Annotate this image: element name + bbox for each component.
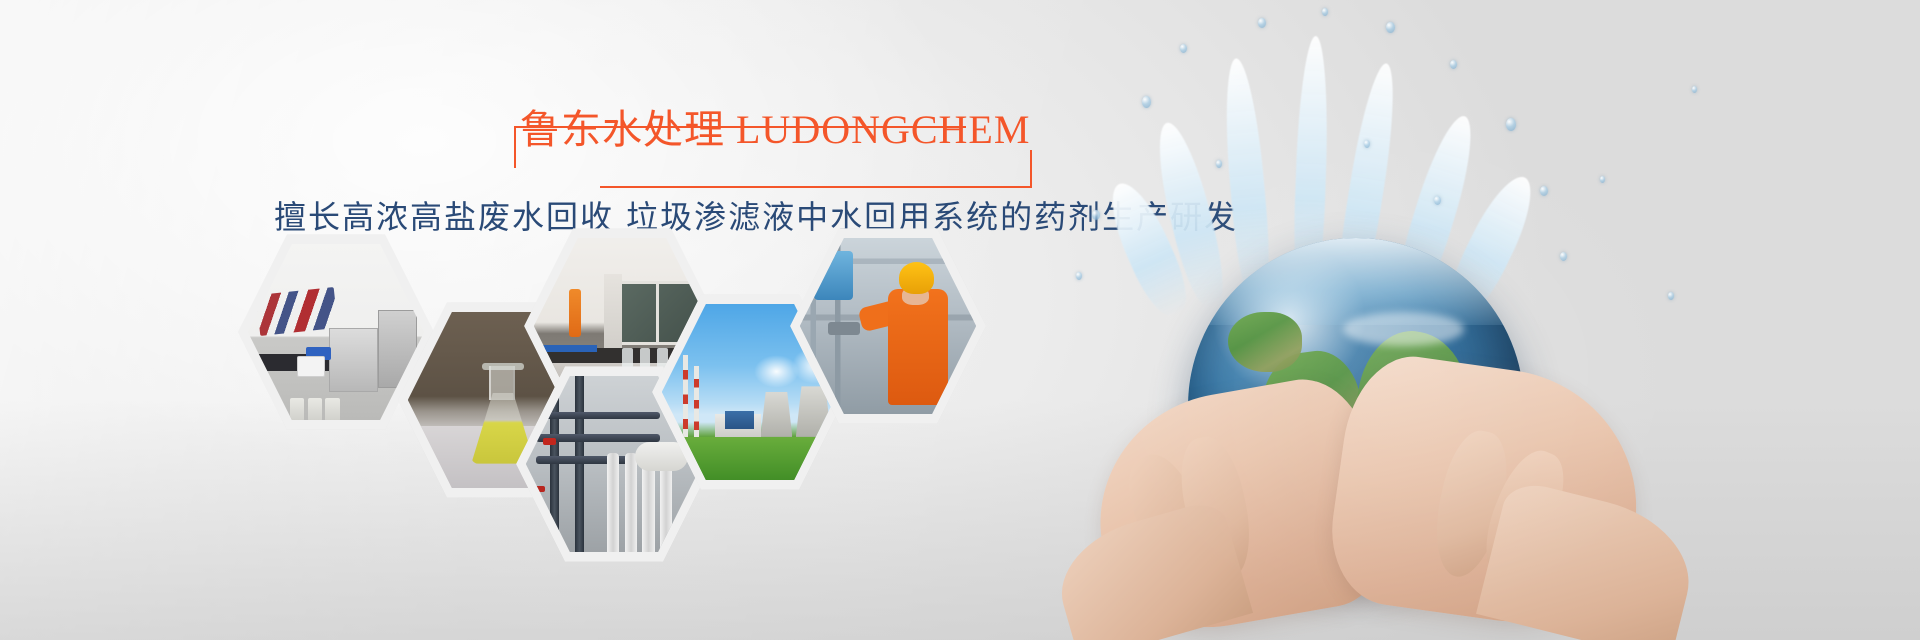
water-droplet — [1600, 176, 1605, 183]
safety-helmet — [899, 262, 934, 294]
lab-jug — [325, 398, 339, 422]
red-valve — [543, 438, 555, 445]
water-droplet — [1434, 196, 1441, 205]
membrane-vessel — [625, 453, 637, 558]
lab-cabinet — [329, 328, 378, 392]
globe-waterline — [1188, 238, 1524, 325]
water-droplet — [1540, 186, 1548, 196]
hex-gallery — [0, 0, 1060, 640]
water-droplet — [1180, 44, 1187, 53]
water-droplet — [1560, 252, 1567, 261]
continent-landmass — [1228, 312, 1302, 372]
water-droplet — [1076, 272, 1082, 280]
vertical-pipe — [575, 370, 584, 557]
wrist-left — [1047, 498, 1253, 640]
hero-banner: 鲁东水处理 LUDONGCHEM 擅长高浓高盐废水回收 垃圾渗滤液中水回用系统的… — [0, 0, 1920, 640]
water-droplet — [1668, 292, 1674, 300]
lab-white-unit — [297, 356, 325, 377]
membrane-vessel — [607, 453, 619, 558]
water-droplet — [1322, 8, 1328, 16]
water-droplet — [1450, 60, 1457, 69]
cooling-tower — [761, 392, 793, 437]
smoke-stack — [694, 366, 699, 437]
flask-neck — [489, 366, 515, 400]
orange-stand — [569, 289, 581, 338]
horizontal-pipe — [536, 412, 659, 419]
wall-slogan — [256, 287, 337, 336]
water-droplet — [1216, 160, 1222, 168]
water-droplet — [1386, 22, 1395, 33]
plant-building-blue — [725, 411, 753, 430]
lab-jug — [290, 398, 304, 422]
cloud-wisp — [1343, 312, 1464, 346]
water-droplet — [1142, 96, 1151, 108]
smoke-stack — [683, 355, 688, 437]
valve-wheel — [828, 322, 860, 335]
water-droplet — [1258, 18, 1266, 28]
water-droplet — [1364, 140, 1370, 148]
flask-lip — [482, 363, 524, 370]
lab-jug — [308, 398, 322, 422]
wrist-right — [1476, 478, 1704, 640]
water-droplet — [1506, 118, 1516, 131]
water-splash-artwork — [1020, 0, 1920, 640]
water-droplet — [1092, 210, 1100, 220]
worker-body — [888, 289, 948, 405]
water-droplet — [1692, 86, 1697, 93]
